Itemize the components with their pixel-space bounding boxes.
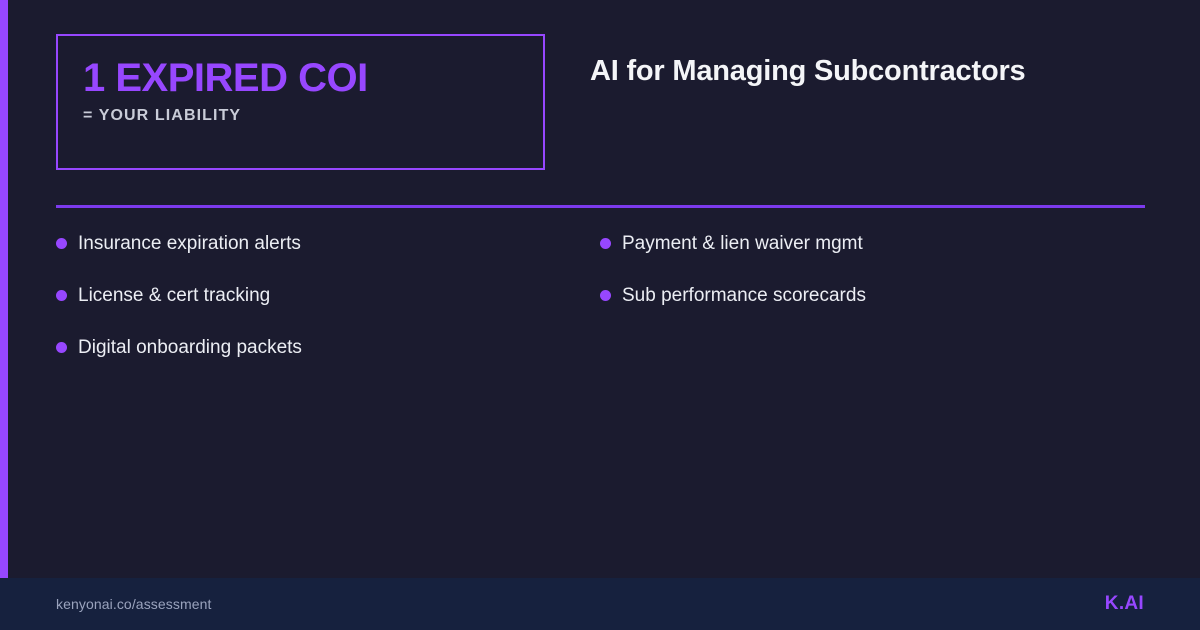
list-item: Insurance expiration alerts xyxy=(56,232,600,284)
stat-headline: 1 EXPIRED COI xyxy=(83,58,543,98)
bullet-column-left: Insurance expiration alerts License & ce… xyxy=(56,232,600,388)
list-item-label: Digital onboarding packets xyxy=(78,336,302,360)
stat-subtitle: = YOUR LIABILITY xyxy=(83,107,543,125)
list-item: Digital onboarding packets xyxy=(56,336,600,388)
footer-bar: kenyonai.co/assessment K.AI xyxy=(0,578,1200,630)
stat-callout-box: 1 EXPIRED COI = YOUR LIABILITY xyxy=(56,34,545,170)
top-row: 1 EXPIRED COI = YOUR LIABILITY AI for Ma… xyxy=(56,34,1146,170)
page-title: AI for Managing Subcontractors xyxy=(590,51,1146,93)
list-item-label: License & cert tracking xyxy=(78,284,270,308)
feature-bullet-grid: Insurance expiration alerts License & ce… xyxy=(56,232,1145,388)
list-item: Payment & lien waiver mgmt xyxy=(600,232,1144,284)
bullet-dot-icon xyxy=(56,238,67,249)
list-item-label: Payment & lien waiver mgmt xyxy=(622,232,863,256)
footer-url-link[interactable]: kenyonai.co/assessment xyxy=(56,596,212,612)
section-divider xyxy=(56,205,1145,208)
list-item-label: Sub performance scorecards xyxy=(622,284,866,308)
bullet-dot-icon xyxy=(600,290,611,301)
brand-logo: K.AI xyxy=(1105,593,1144,615)
slide-canvas: 1 EXPIRED COI = YOUR LIABILITY AI for Ma… xyxy=(0,0,1200,578)
bullet-column-right: Payment & lien waiver mgmt Sub performan… xyxy=(600,232,1144,388)
bullet-dot-icon xyxy=(56,342,67,353)
list-item: License & cert tracking xyxy=(56,284,600,336)
bullet-dot-icon xyxy=(600,238,611,249)
bullet-dot-icon xyxy=(56,290,67,301)
list-item-label: Insurance expiration alerts xyxy=(78,232,301,256)
list-item: Sub performance scorecards xyxy=(600,284,1144,336)
